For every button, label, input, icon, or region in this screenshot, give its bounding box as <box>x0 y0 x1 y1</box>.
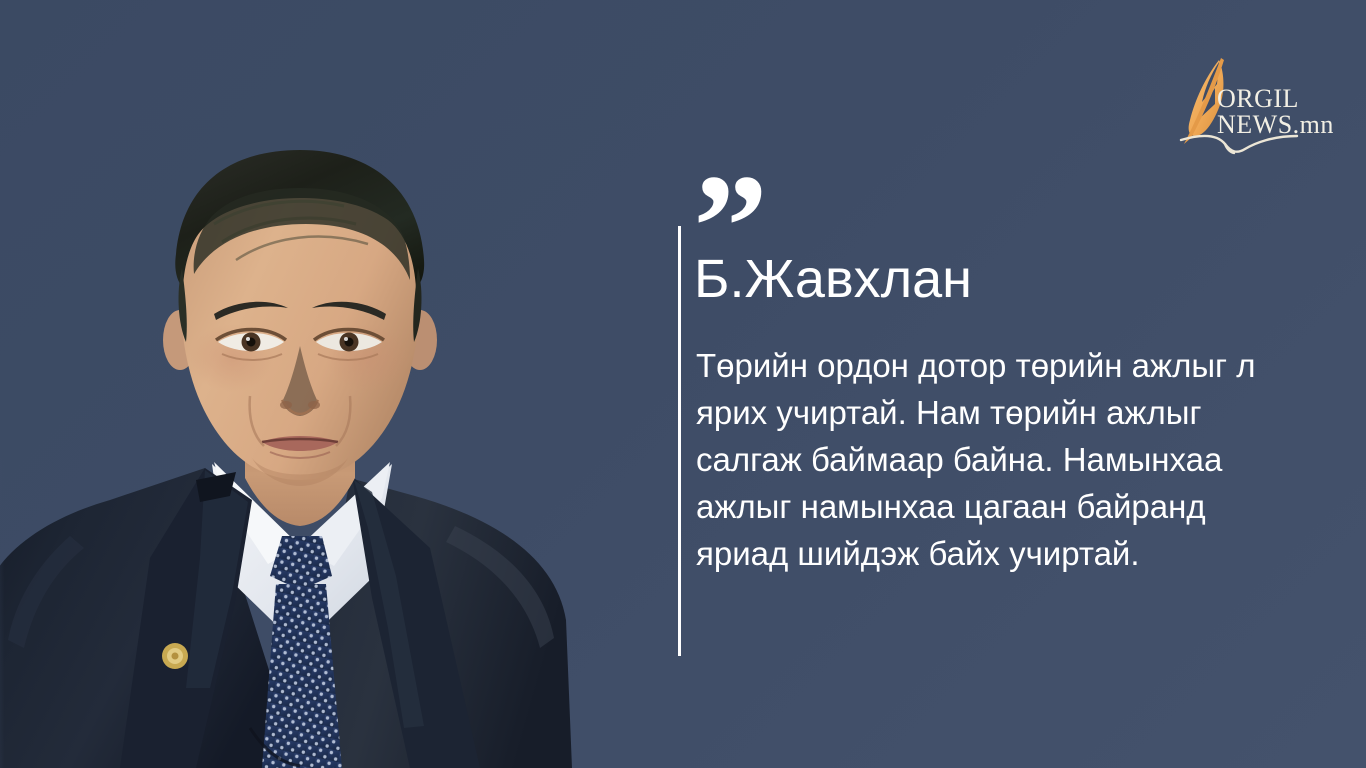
quote-vertical-rule <box>678 226 681 656</box>
quote-body-text: Төрийн ордон дотор төрийн ажлыг л ярих у… <box>696 342 1306 577</box>
logo-text-news: NEWS.mn <box>1217 110 1334 140</box>
lapel-pin-icon <box>162 643 188 669</box>
quote-card: ” Б.Жавхлан Төрийн ордон дотор төрийн аж… <box>0 0 1366 768</box>
orgil-news-logo[interactable]: ORGIL NEWS.mn <box>1175 48 1325 163</box>
speaker-name: Б.Жавхлан <box>694 252 972 306</box>
portrait-photo <box>0 128 600 768</box>
